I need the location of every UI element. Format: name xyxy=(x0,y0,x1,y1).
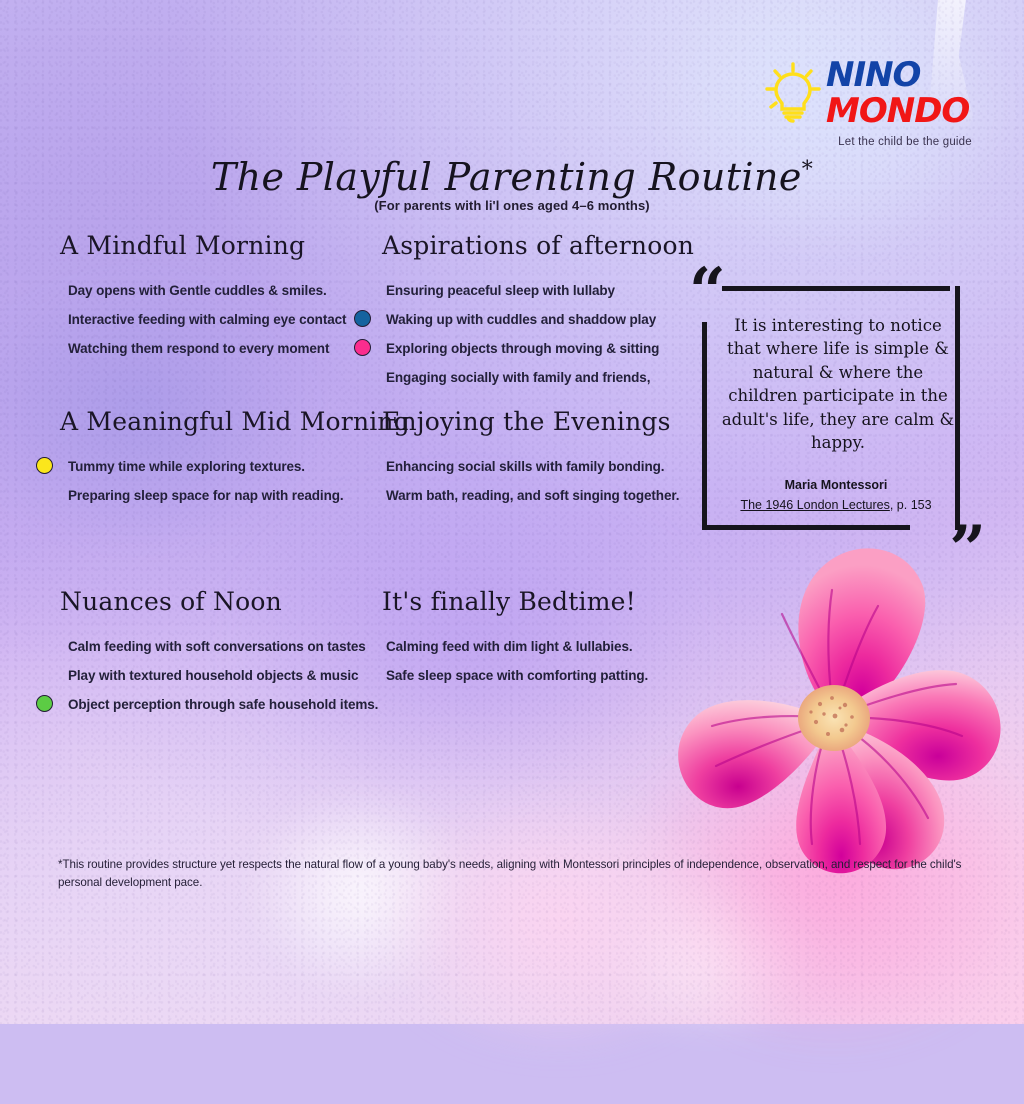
brand-name-line1: NINO xyxy=(826,58,969,92)
routine-item-label: Calm feeding with soft conversations on … xyxy=(68,639,366,654)
section-heading-meaningful-mid-morning: A Meaningful Mid Morning xyxy=(60,408,410,436)
page-subtitle: (For parents with li'l ones aged 4–6 mon… xyxy=(0,198,1024,213)
routine-item: Safe sleep space with comforting patting… xyxy=(386,663,648,688)
quote-text: It is interesting to notice that where l… xyxy=(720,314,956,455)
section-lines-meaningful-mid-morning: Tummy time while exploring textures.Prep… xyxy=(68,454,410,508)
routine-item-label: Waking up with cuddles and shaddow play xyxy=(386,312,656,327)
quote-frame-top xyxy=(722,286,950,291)
routine-item-label: Warm bath, reading, and soft singing tog… xyxy=(386,488,679,503)
page-title-asterisk: * xyxy=(802,157,813,182)
routine-item-label: Preparing sleep space for nap with readi… xyxy=(68,488,344,503)
bullet-dot-icon xyxy=(354,310,371,327)
routine-item: Tummy time while exploring textures. xyxy=(68,454,410,479)
section-mindful-morning: A Mindful MorningDay opens with Gentle c… xyxy=(46,232,346,361)
routine-item-label: Safe sleep space with comforting patting… xyxy=(386,668,648,683)
routine-item: Day opens with Gentle cuddles & smiles. xyxy=(68,278,346,303)
section-lines-finally-bedtime: Calming feed with dim light & lullabies.… xyxy=(386,634,648,688)
routine-item-label: Engaging socially with family and friend… xyxy=(386,370,650,385)
page-title-text: The Playful Parenting Routine xyxy=(211,155,802,199)
section-lines-aspirations-afternoon: Ensuring peaceful sleep with lullabyWaki… xyxy=(386,278,694,390)
routine-item: Calming feed with dim light & lullabies. xyxy=(386,634,648,659)
routine-item: Object perception through safe household… xyxy=(68,692,378,717)
quote-author: Maria Montessori xyxy=(714,478,958,492)
routine-item-label: Enhancing social skills with family bond… xyxy=(386,459,664,474)
routine-item-label: Exploring objects through moving & sitti… xyxy=(386,341,659,356)
routine-item: Exploring objects through moving & sitti… xyxy=(386,336,694,361)
quote-frame-left xyxy=(702,322,707,530)
routine-item: Calm feeding with soft conversations on … xyxy=(68,634,378,659)
section-meaningful-mid-morning: A Meaningful Mid MorningTummy time while… xyxy=(46,408,410,508)
quote-source-book: The 1946 London Lectures xyxy=(740,498,889,512)
lightbulb-icon xyxy=(762,62,824,124)
bullet-dot-icon xyxy=(36,695,53,712)
routine-item: Interactive feeding with calming eye con… xyxy=(68,307,346,332)
routine-item-label: Interactive feeding with calming eye con… xyxy=(68,312,346,327)
section-nuances-of-noon: Nuances of NoonCalm feeding with soft co… xyxy=(46,588,378,717)
routine-item: Watching them respond to every moment xyxy=(68,336,346,361)
section-aspirations-afternoon: Aspirations of afternoonEnsuring peacefu… xyxy=(372,232,694,390)
routine-item: Ensuring peaceful sleep with lullaby xyxy=(386,278,694,303)
routine-item-label: Calming feed with dim light & lullabies. xyxy=(386,639,633,654)
routine-item-label: Watching them respond to every moment xyxy=(68,341,329,356)
brand-name-line2: MONDO xyxy=(826,94,969,130)
page-title: The Playful Parenting Routine* xyxy=(0,155,1024,199)
routine-item-label: Ensuring peaceful sleep with lullaby xyxy=(386,283,615,298)
section-heading-nuances-of-noon: Nuances of Noon xyxy=(60,588,378,616)
section-finally-bedtime: It's finally Bedtime!Calming feed with d… xyxy=(372,588,648,688)
footnote: *This routine provides structure yet res… xyxy=(58,856,1006,892)
routine-item-label: Tummy time while exploring textures. xyxy=(68,459,305,474)
flower-illustration xyxy=(636,518,1024,876)
quote-source-page: , p. 153 xyxy=(890,498,932,512)
montessori-quote-card: “ ” It is interesting to notice that whe… xyxy=(690,272,982,544)
routine-item: Waking up with cuddles and shaddow play xyxy=(386,307,694,332)
section-lines-mindful-morning: Day opens with Gentle cuddles & smiles.I… xyxy=(68,278,346,361)
routine-item: Enhancing social skills with family bond… xyxy=(386,454,679,479)
routine-item-label: Day opens with Gentle cuddles & smiles. xyxy=(68,283,327,298)
section-heading-mindful-morning: A Mindful Morning xyxy=(60,232,346,260)
section-heading-enjoying-evenings: Enjoying the Evenings xyxy=(382,408,679,436)
section-lines-enjoying-evenings: Enhancing social skills with family bond… xyxy=(386,454,679,508)
routine-item: Play with textured household objects & m… xyxy=(68,663,378,688)
section-lines-nuances-of-noon: Calm feeding with soft conversations on … xyxy=(68,634,378,717)
brand-logo[interactable]: NINO MONDO Let the child be the guide xyxy=(762,58,1012,150)
section-enjoying-evenings: Enjoying the EveningsEnhancing social sk… xyxy=(372,408,679,508)
routine-item: Engaging socially with family and friend… xyxy=(386,365,694,390)
routine-item: Preparing sleep space for nap with readi… xyxy=(68,483,410,508)
routine-item-label: Play with textured household objects & m… xyxy=(68,668,358,683)
brand-tagline: Let the child be the guide xyxy=(798,136,1012,148)
bullet-dot-icon xyxy=(354,339,371,356)
section-heading-finally-bedtime: It's finally Bedtime! xyxy=(382,588,648,616)
bullet-dot-icon xyxy=(36,457,53,474)
routine-item: Warm bath, reading, and soft singing tog… xyxy=(386,483,679,508)
quote-source: The 1946 London Lectures, p. 153 xyxy=(714,498,958,512)
section-heading-aspirations-afternoon: Aspirations of afternoon xyxy=(382,232,694,260)
routine-item-label: Object perception through safe household… xyxy=(68,697,378,712)
brand-wordmark: NINO MONDO xyxy=(826,58,969,130)
